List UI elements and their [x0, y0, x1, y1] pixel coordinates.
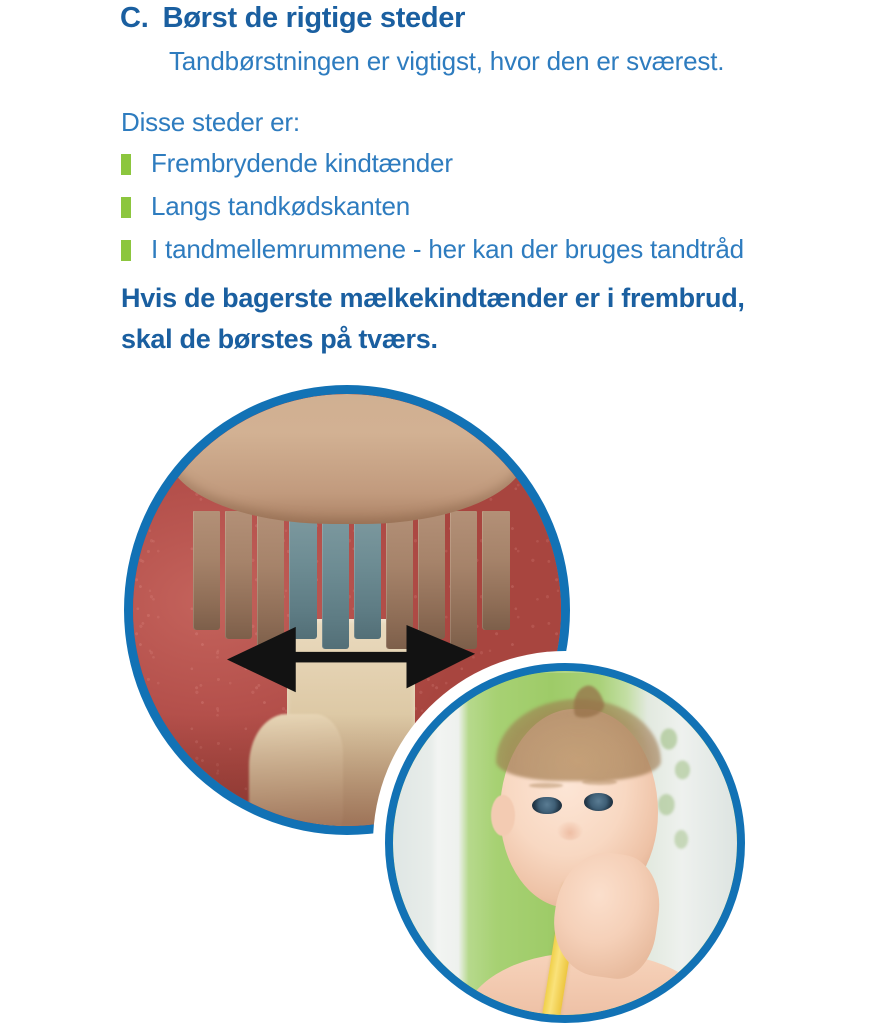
bristle-tuft	[193, 511, 220, 630]
list-intro-label: Disse steder er:	[121, 107, 300, 138]
places-bullet-list: Frembrydende kindtænder Langs tandkødska…	[121, 143, 744, 272]
closing-note: Hvis de bagerste mælkekindtænder er i fr…	[121, 278, 745, 360]
list-item-label: I tandmellemrummene - her kan der bruges…	[151, 234, 744, 265]
bristle-tuft	[418, 511, 445, 640]
inset-photo-circle	[385, 663, 745, 1023]
bristle-tuft	[482, 511, 509, 630]
baby-brushing-photo	[393, 671, 737, 1015]
baby-eyebrow	[582, 779, 616, 785]
list-item-label: Frembrydende kindtænder	[151, 148, 453, 179]
section-subtitle: Tandbørstningen er vigtigst, hvor den er…	[169, 46, 724, 77]
page-title: Børst de rigtige steder	[163, 2, 466, 35]
baby-nose	[558, 822, 582, 839]
list-item: Frembrydende kindtænder	[121, 143, 744, 186]
baby-ear	[491, 795, 515, 836]
section-letter: C.	[120, 2, 149, 35]
section-heading: C. Børst de rigtige steder	[120, 2, 465, 35]
toothbrush-head	[167, 394, 527, 524]
bristle-tuft	[354, 511, 381, 640]
list-item-label: Langs tandkødskanten	[151, 191, 410, 222]
bristle-tuft	[225, 511, 252, 640]
list-item: Langs tandkødskanten	[121, 186, 744, 229]
baby-eye	[532, 797, 562, 815]
bullet-square-icon	[121, 154, 131, 175]
bristle-tuft	[289, 511, 316, 640]
list-item: I tandmellemrummene - her kan der bruges…	[121, 229, 744, 272]
bullet-square-icon	[121, 240, 131, 261]
closing-note-line-2: skal de børstes på tværs.	[121, 319, 745, 360]
photo-figure-group	[0, 370, 886, 886]
closing-note-line-1: Hvis de bagerste mælkekindtænder er i fr…	[121, 278, 745, 319]
bullet-square-icon	[121, 197, 131, 218]
inset-photo-white-ring	[373, 651, 757, 1035]
